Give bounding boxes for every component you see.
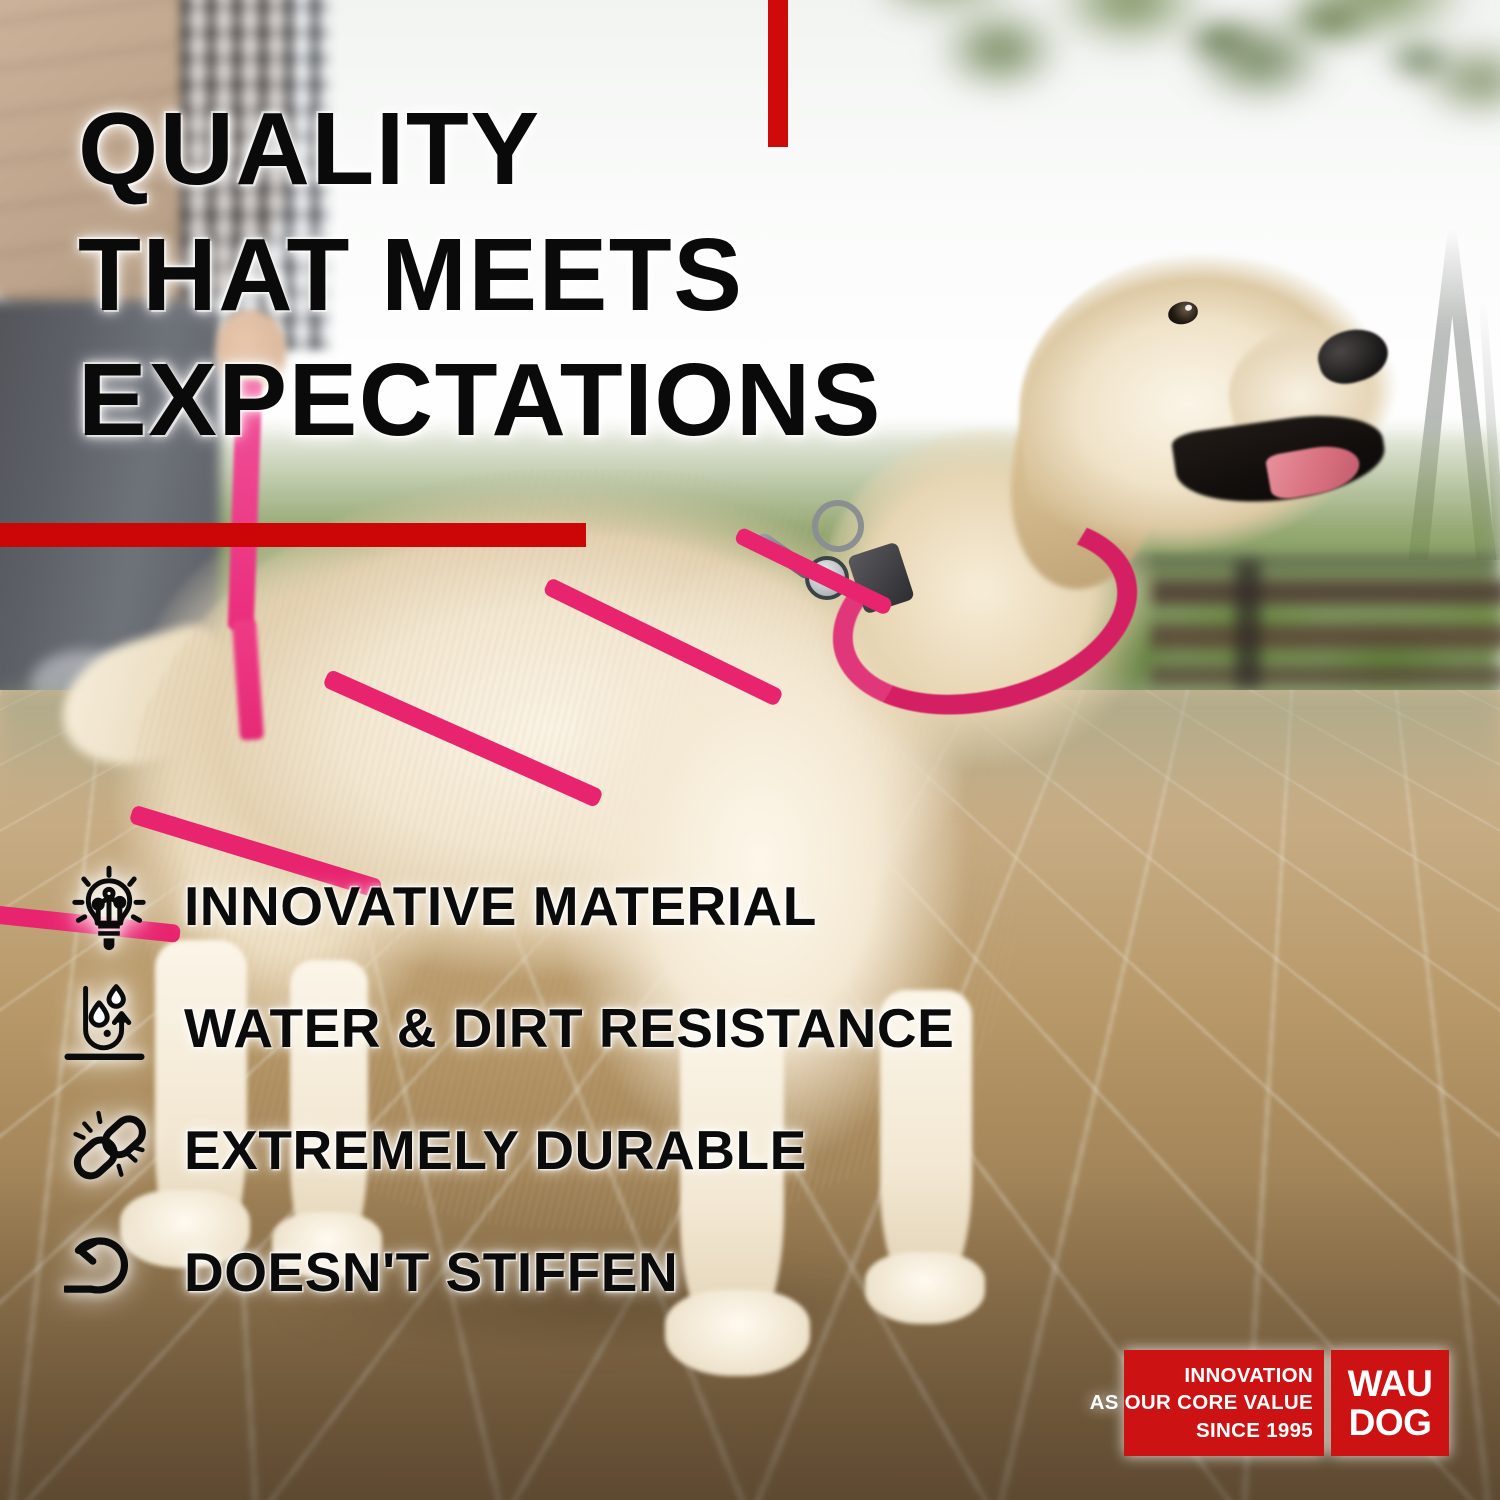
claim-line-3: SINCE 1995 <box>1196 1417 1313 1444</box>
feature-label-extremely-durable: EXTREMELY DURABLE <box>184 1118 807 1182</box>
feature-list: INNOVATIVE MATERIAL WATER & DIRT RESISTA… <box>62 845 1042 1333</box>
headline-line-2: THAT MEETS <box>78 212 1158 338</box>
broken-chain-link-icon <box>62 1103 156 1197</box>
claim-line-1: INNOVATION <box>1184 1362 1313 1389</box>
feature-item-water-dirt-resistance: WATER & DIRT RESISTANCE <box>62 967 1042 1089</box>
red-horizontal-divider <box>0 523 586 547</box>
lightbulb-idea-icon <box>62 859 156 953</box>
bench-leg <box>1235 560 1261 690</box>
feature-item-doesnt-stiffen: DOESN'T STIFFEN <box>62 1211 1042 1333</box>
feature-item-innovative-material: INNOVATIVE MATERIAL <box>62 845 1042 967</box>
brand-badge-group: INNOVATION AS OUR CORE VALUE SINCE 1995 … <box>1124 1350 1449 1456</box>
feature-label-innovative-material: INNOVATIVE MATERIAL <box>184 874 817 938</box>
headline-line-3: EXPECTATIONS <box>78 337 1158 463</box>
water-repellent-drop-icon <box>62 981 156 1075</box>
claim-line-2: AS OUR CORE VALUE <box>1090 1389 1313 1416</box>
feature-item-extremely-durable: EXTREMELY DURABLE <box>62 1089 1042 1211</box>
page-title: QUALITY THAT MEETS EXPECTATIONS <box>78 86 1158 463</box>
hanging-branch <box>1180 0 1480 210</box>
feature-label-doesnt-stiffen: DOESN'T STIFFEN <box>184 1240 678 1304</box>
product-marketing-poster: QUALITY THAT MEETS EXPECTATIONS <box>0 0 1500 1500</box>
feature-label-water-dirt-resistance: WATER & DIRT RESISTANCE <box>184 996 954 1060</box>
blurred-park-bench <box>1150 580 1500 690</box>
innovation-claim-badge: INNOVATION AS OUR CORE VALUE SINCE 1995 <box>1124 1350 1324 1456</box>
brand-line-1: WAU <box>1348 1364 1433 1403</box>
waudog-logo-badge: WAU DOG <box>1331 1350 1449 1456</box>
brand-line-2: DOG <box>1349 1403 1432 1442</box>
headline-line-1: QUALITY <box>78 86 1158 212</box>
flexible-bend-arrow-icon <box>62 1225 156 1319</box>
